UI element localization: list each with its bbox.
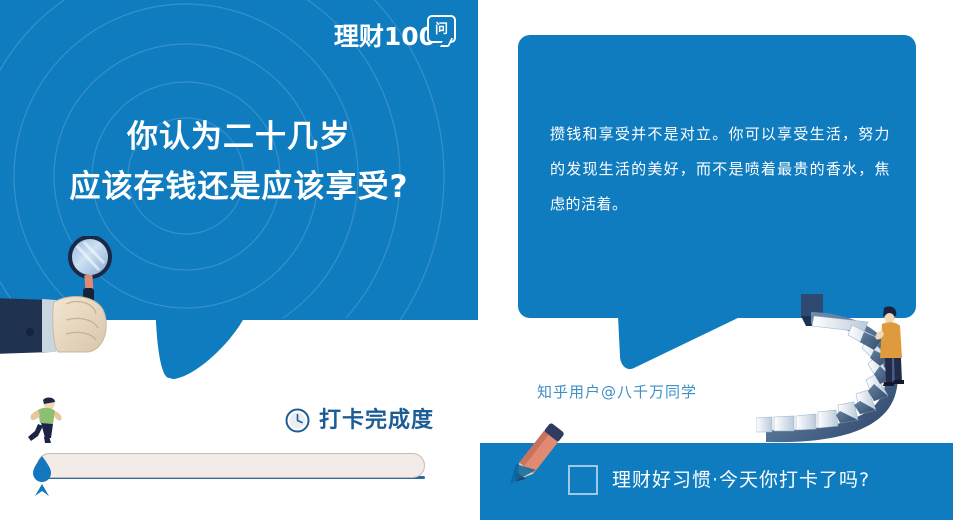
- drop-marker-icon[interactable]: [31, 456, 53, 482]
- brand-logo-text: 理财100: [334, 24, 436, 49]
- spiral-staircase-illustration: [756, 292, 953, 452]
- quote-text: 攒钱和享受并不是对立。你可以享受生活，努力的发现生活的美好，而不是喷着最贵的香水…: [550, 117, 890, 222]
- page-title: 你认为二十几岁 应该存钱还是应该享受?: [0, 112, 478, 212]
- quote-bubble: 攒钱和享受并不是对立。你可以享受生活，努力的发现生活的美好，而不是喷着最贵的香水…: [518, 35, 916, 318]
- left-panel-bubble-tail: [140, 318, 400, 382]
- headline-line-1: 你认为二十几岁: [0, 112, 478, 162]
- progress-bar-track: [37, 453, 425, 478]
- speech-bubble-icon: 问: [427, 15, 456, 43]
- brand-logo-badge-text: 问: [435, 23, 448, 36]
- progress-caret-icon: [34, 484, 50, 496]
- brand-logo: 理财100 问: [334, 24, 456, 49]
- pencil-icon: [502, 420, 568, 494]
- progress-label-group: 打卡完成度: [285, 408, 434, 433]
- headline-line-2: 应该存钱还是应该享受?: [0, 162, 478, 212]
- quote-attribution: 知乎用户@八千万同学: [537, 381, 697, 402]
- check-in-checkbox[interactable]: [568, 465, 598, 495]
- running-person-icon: [25, 396, 67, 444]
- hand-holding-magnifier-icon: [0, 236, 144, 371]
- quote-bubble-tail: [612, 316, 742, 370]
- progress-label-text: 打卡完成度: [319, 410, 434, 432]
- progress-bar[interactable]: [31, 453, 427, 480]
- check-in-text: 理财好习惯·今天你打卡了吗?: [612, 466, 870, 494]
- clock-icon: [285, 408, 310, 433]
- poster-canvas: 理财100 问 你认为二十几岁 应该存钱还是应该享受?: [0, 0, 953, 520]
